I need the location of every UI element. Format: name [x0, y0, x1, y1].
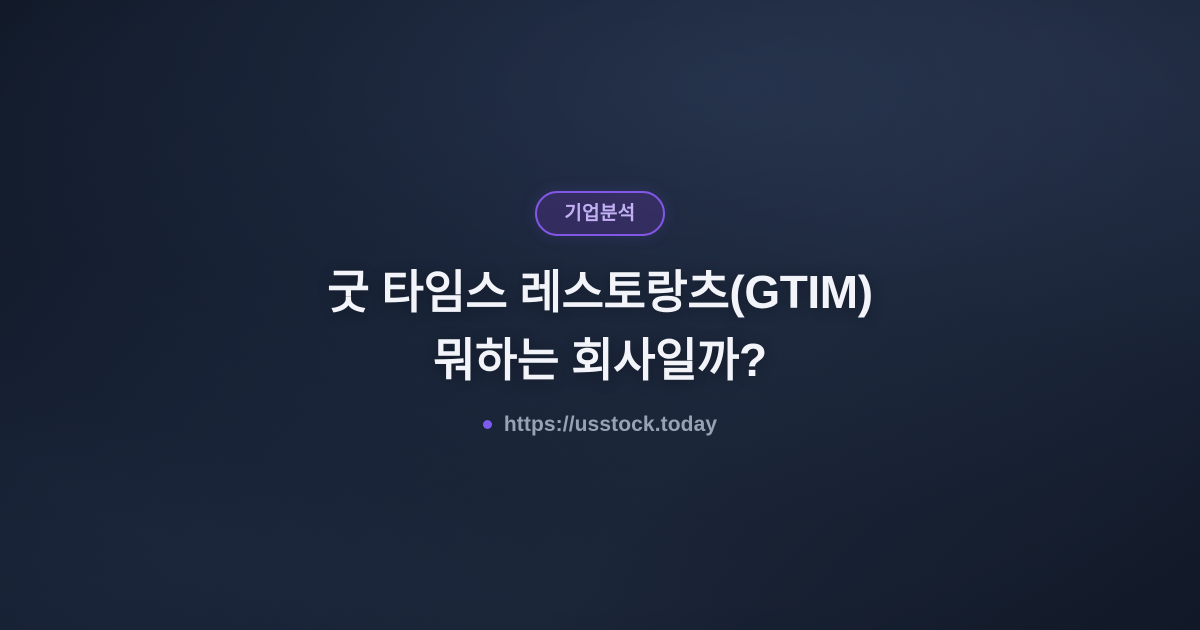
bullet-dot-icon [483, 420, 492, 429]
card-content: 기업분석 굿 타임스 레스토랑츠(GTIM) 뭐하는 회사일까? https:/… [0, 0, 1200, 435]
site-url-label: https://usstock.today [504, 414, 717, 435]
page-title-line-1: 굿 타임스 레스토랑츠(GTIM) [100, 258, 1100, 326]
page-title-line-2: 뭐하는 회사일까? [100, 326, 1100, 394]
category-badge-label: 기업분석 [564, 204, 635, 223]
site-url-row: https://usstock.today [483, 414, 717, 435]
og-share-card: 기업분석 굿 타임스 레스토랑츠(GTIM) 뭐하는 회사일까? https:/… [0, 0, 1200, 630]
page-title: 굿 타임스 레스토랑츠(GTIM) 뭐하는 회사일까? [100, 258, 1100, 394]
category-badge: 기업분석 [535, 191, 664, 236]
